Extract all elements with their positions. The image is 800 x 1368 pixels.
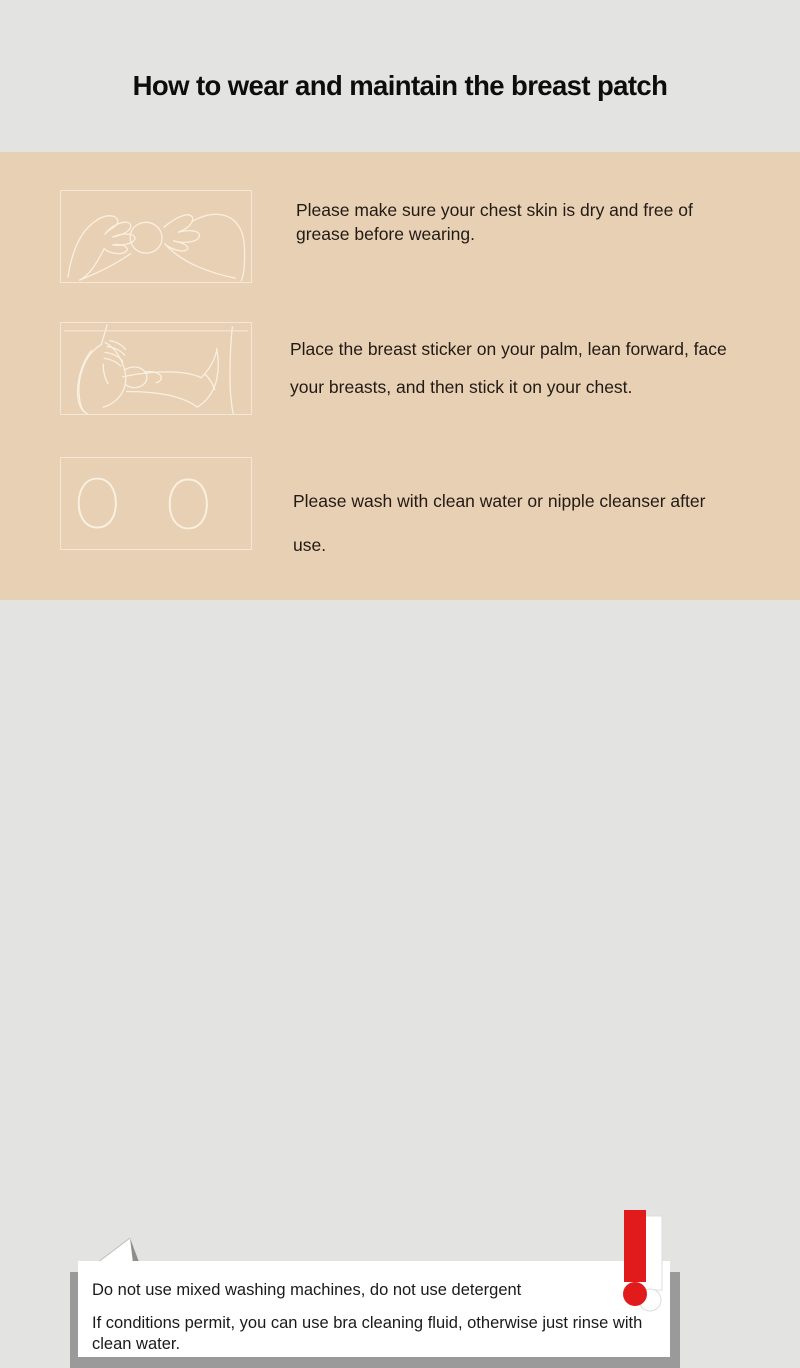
two-patches-svg: [61, 458, 251, 549]
step-3-text: Please wash with clean water or nipple c…: [293, 479, 723, 567]
page-title: How to wear and maintain the breast patc…: [0, 70, 800, 102]
applying-patch-to-chest-svg: [61, 323, 251, 414]
applying-patch-to-chest-illustration: [60, 322, 252, 415]
header-section: How to wear and maintain the breast patc…: [0, 0, 800, 152]
hands-holding-patch-svg: [61, 191, 251, 282]
warning-card: Do not use mixed washing machines, do no…: [78, 1261, 670, 1357]
exclamation-mark-icon: [612, 1208, 684, 1312]
hands-holding-patch-illustration: [60, 190, 252, 283]
step-2-text: Place the breast sticker on your palm, l…: [290, 330, 765, 406]
instruction-infographic: How to wear and maintain the breast patc…: [0, 0, 800, 800]
step-1-text: Please make sure your chest skin is dry …: [296, 198, 748, 246]
two-patches-illustration: [60, 457, 252, 550]
steps-section: Please make sure your chest skin is dry …: [0, 152, 800, 600]
warning-section: Do not use mixed washing machines, do no…: [0, 600, 800, 800]
warning-line-1: Do not use mixed washing machines, do no…: [92, 1281, 521, 1300]
warning-line-2: If conditions permit, you can use bra cl…: [92, 1313, 652, 1355]
